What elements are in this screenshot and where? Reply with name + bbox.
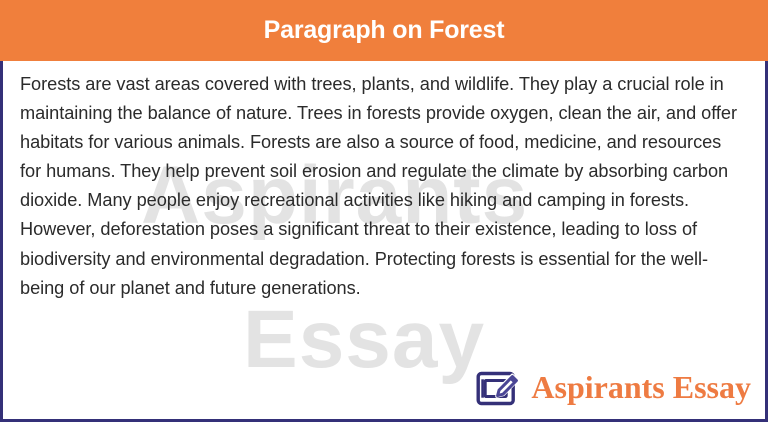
article-body-card: Aspirants Essay Forests are vast areas c…	[0, 61, 768, 422]
watermark-line-2: Essay	[243, 299, 485, 381]
image-edit-pencil-icon	[476, 367, 522, 407]
page-title: Paragraph on Forest	[264, 18, 505, 43]
header-banner: Paragraph on Forest	[0, 0, 768, 61]
article-paragraph: Forests are vast areas covered with tree…	[3, 61, 765, 303]
paragraph-article-card: Paragraph on Forest Aspirants Essay Fore…	[0, 0, 768, 422]
brand-logo[interactable]: Aspirants Essay	[476, 367, 751, 407]
brand-name: Aspirants Essay	[531, 371, 751, 403]
